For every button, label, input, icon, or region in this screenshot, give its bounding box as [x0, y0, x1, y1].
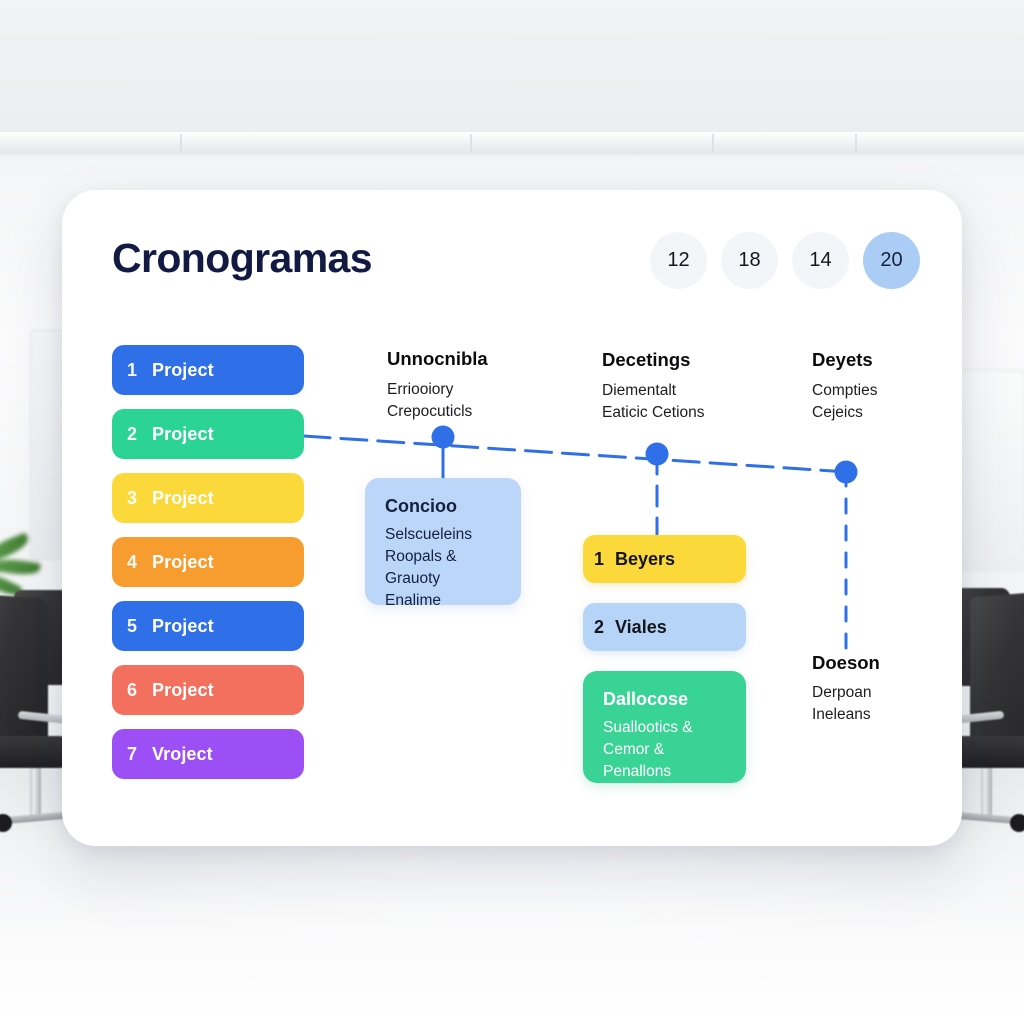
board-header: Cronogramas 12 18 14 20 [62, 190, 962, 330]
project-list: 1 Project 2 Project 3 Project 4 Project … [112, 345, 304, 793]
badge-20-selected[interactable]: 20 [863, 232, 920, 289]
chip-label: Viales [615, 617, 667, 638]
project-label: Project [152, 360, 214, 381]
timeline-node-2 [646, 443, 669, 466]
note-line-2: Ineleans [812, 704, 880, 726]
badge-12[interactable]: 12 [650, 232, 707, 289]
timeline-node-1 [432, 426, 455, 449]
detail-card-line-1: Selscueleins [385, 524, 501, 546]
chip-index: 2 [583, 617, 615, 638]
ceiling-seam [470, 134, 472, 152]
badge-row: 12 18 14 20 [650, 232, 920, 289]
project-item-2[interactable]: 2 Project [112, 409, 304, 459]
milestone-column-2[interactable]: Decetings Diementalt Eaticic Cetions [602, 349, 705, 425]
chip-viales[interactable]: 2 Viales [583, 603, 746, 651]
project-index: 6 [112, 680, 152, 701]
detail-card-title: Concioo [385, 496, 501, 517]
badge-18[interactable]: 18 [721, 232, 778, 289]
milestone-column-3[interactable]: Deyets Compties Cejeics [812, 349, 877, 425]
milestone-subtitle-2: Crepocuticls [387, 401, 488, 423]
detail-card-line-3: Grauoty [385, 568, 501, 590]
project-item-1[interactable]: 1 Project [112, 345, 304, 395]
ceiling-light-band [0, 132, 1024, 154]
project-index: 5 [112, 616, 152, 637]
chip-beyers[interactable]: 1 Beyers [583, 535, 746, 583]
timeline-axis-line [304, 436, 848, 472]
milestone-title: Unnocnibla [387, 348, 488, 370]
project-label: Project [152, 488, 214, 509]
detail-card-title: Dallocose [603, 689, 726, 710]
project-label: Vroject [152, 744, 213, 765]
note-title: Doeson [812, 652, 880, 674]
detail-card-line-1: Suallootics & [603, 717, 726, 739]
project-item-7[interactable]: 7 Vroject [112, 729, 304, 779]
milestone-subtitle-1: Erriooiory [387, 379, 488, 401]
project-label: Project [152, 616, 214, 637]
milestone-subtitle-1: Diementalt [602, 380, 705, 402]
project-item-5[interactable]: 5 Project [112, 601, 304, 651]
project-item-6[interactable]: 6 Project [112, 665, 304, 715]
badge-label: 12 [667, 249, 689, 272]
milestone-column-1[interactable]: Unnocnibla Erriooiory Crepocuticls [387, 348, 488, 424]
ceiling-seam [180, 134, 182, 152]
project-label: Project [152, 680, 214, 701]
badge-14[interactable]: 14 [792, 232, 849, 289]
timeline-note[interactable]: Doeson Derpoan Ineleans [812, 652, 880, 727]
detail-card-blue[interactable]: Concioo Selscueleins Roopals & Grauoty E… [365, 478, 521, 605]
note-line-1: Derpoan [812, 682, 880, 704]
detail-card-line-2: Cemor & [603, 739, 726, 761]
milestone-subtitle-2: Eaticic Cetions [602, 402, 705, 424]
ceiling-seam [855, 134, 857, 152]
milestone-title: Decetings [602, 349, 705, 371]
project-index: 7 [112, 744, 152, 765]
milestone-subtitle-1: Compties [812, 380, 877, 402]
page-title: Cronogramas [112, 235, 372, 282]
detail-card-green[interactable]: Dallocose Suallootics & Cemor & Penallon… [583, 671, 746, 783]
ceiling-seam [712, 134, 714, 152]
detail-card-line-3: Penallons [603, 761, 726, 783]
milestone-title: Deyets [812, 349, 877, 371]
project-item-3[interactable]: 3 Project [112, 473, 304, 523]
floor-reflection [0, 830, 1024, 1020]
timeline-board: Cronogramas 12 18 14 20 1 Project 2 Proj… [62, 190, 962, 846]
chip-label: Beyers [615, 549, 675, 570]
project-item-4[interactable]: 4 Project [112, 537, 304, 587]
timeline-node-3 [835, 461, 858, 484]
project-index: 4 [112, 552, 152, 573]
detail-card-line-2: Roopals & [385, 546, 501, 568]
detail-card-line-4: Enalime [385, 590, 501, 612]
project-index: 1 [112, 360, 152, 381]
chip-index: 1 [583, 549, 615, 570]
project-index: 3 [112, 488, 152, 509]
wall-monitor [955, 370, 1024, 570]
project-label: Project [152, 424, 214, 445]
badge-label: 18 [738, 249, 760, 272]
project-index: 2 [112, 424, 152, 445]
badge-label: 14 [809, 249, 831, 272]
milestone-subtitle-2: Cejeics [812, 402, 877, 424]
project-label: Project [152, 552, 214, 573]
badge-label: 20 [880, 249, 902, 272]
